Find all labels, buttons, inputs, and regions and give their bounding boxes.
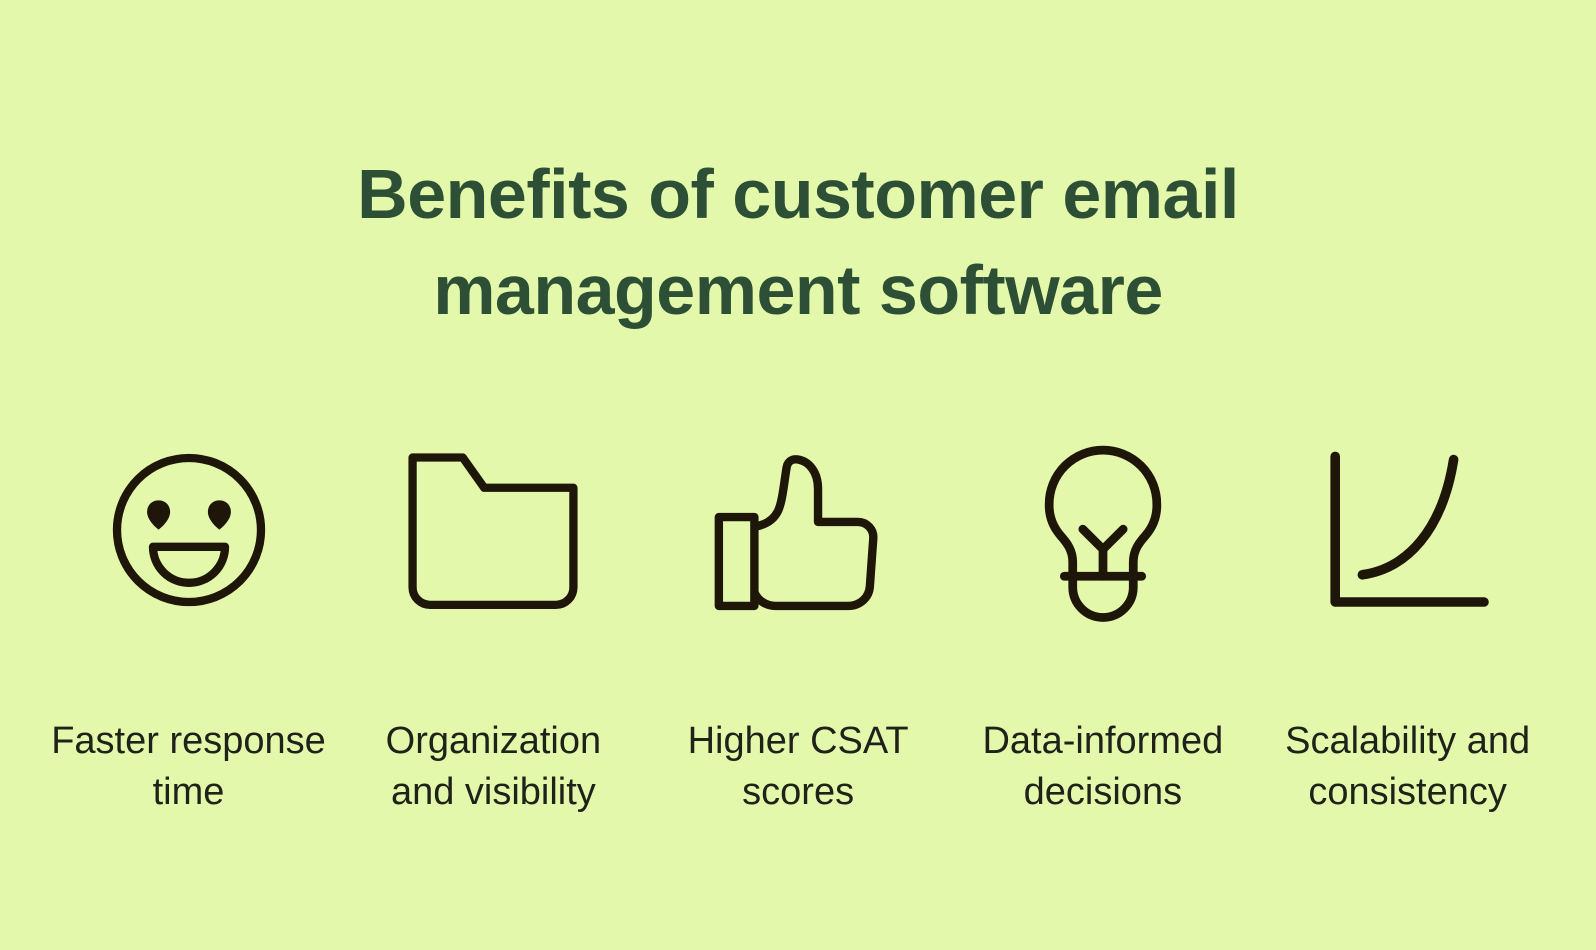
growth-chart-icon	[1327, 430, 1489, 630]
page-title: Benefits of customer email management so…	[233, 146, 1363, 338]
title-block: Benefits of customer email management so…	[233, 146, 1363, 338]
benefits-row: Faster response time Organization and vi…	[0, 430, 1596, 818]
infographic-slide: Benefits of customer email management so…	[0, 0, 1596, 950]
benefit-item-faster-response-time: Faster response time	[36, 430, 341, 818]
benefit-label: Faster response time	[36, 716, 341, 818]
benefit-item-scalability-and-consistency: Scalability and consistency	[1255, 430, 1560, 818]
benefit-label: Scalability and consistency	[1263, 716, 1553, 818]
benefit-label: Organization and visibility	[343, 716, 643, 818]
lightbulb-icon	[1029, 430, 1177, 630]
benefit-item-higher-csat-scores: Higher CSAT scores	[646, 430, 951, 818]
thumbs-up-icon	[714, 430, 882, 630]
smiley-heart-eyes-icon	[109, 430, 269, 630]
benefit-label: Higher CSAT scores	[648, 716, 948, 818]
benefit-label: Data-informed decisions	[953, 716, 1253, 818]
folder-icon	[407, 430, 579, 630]
benefit-item-organization-and-visibility: Organization and visibility	[341, 430, 646, 818]
benefit-item-data-informed-decisions: Data-informed decisions	[951, 430, 1256, 818]
